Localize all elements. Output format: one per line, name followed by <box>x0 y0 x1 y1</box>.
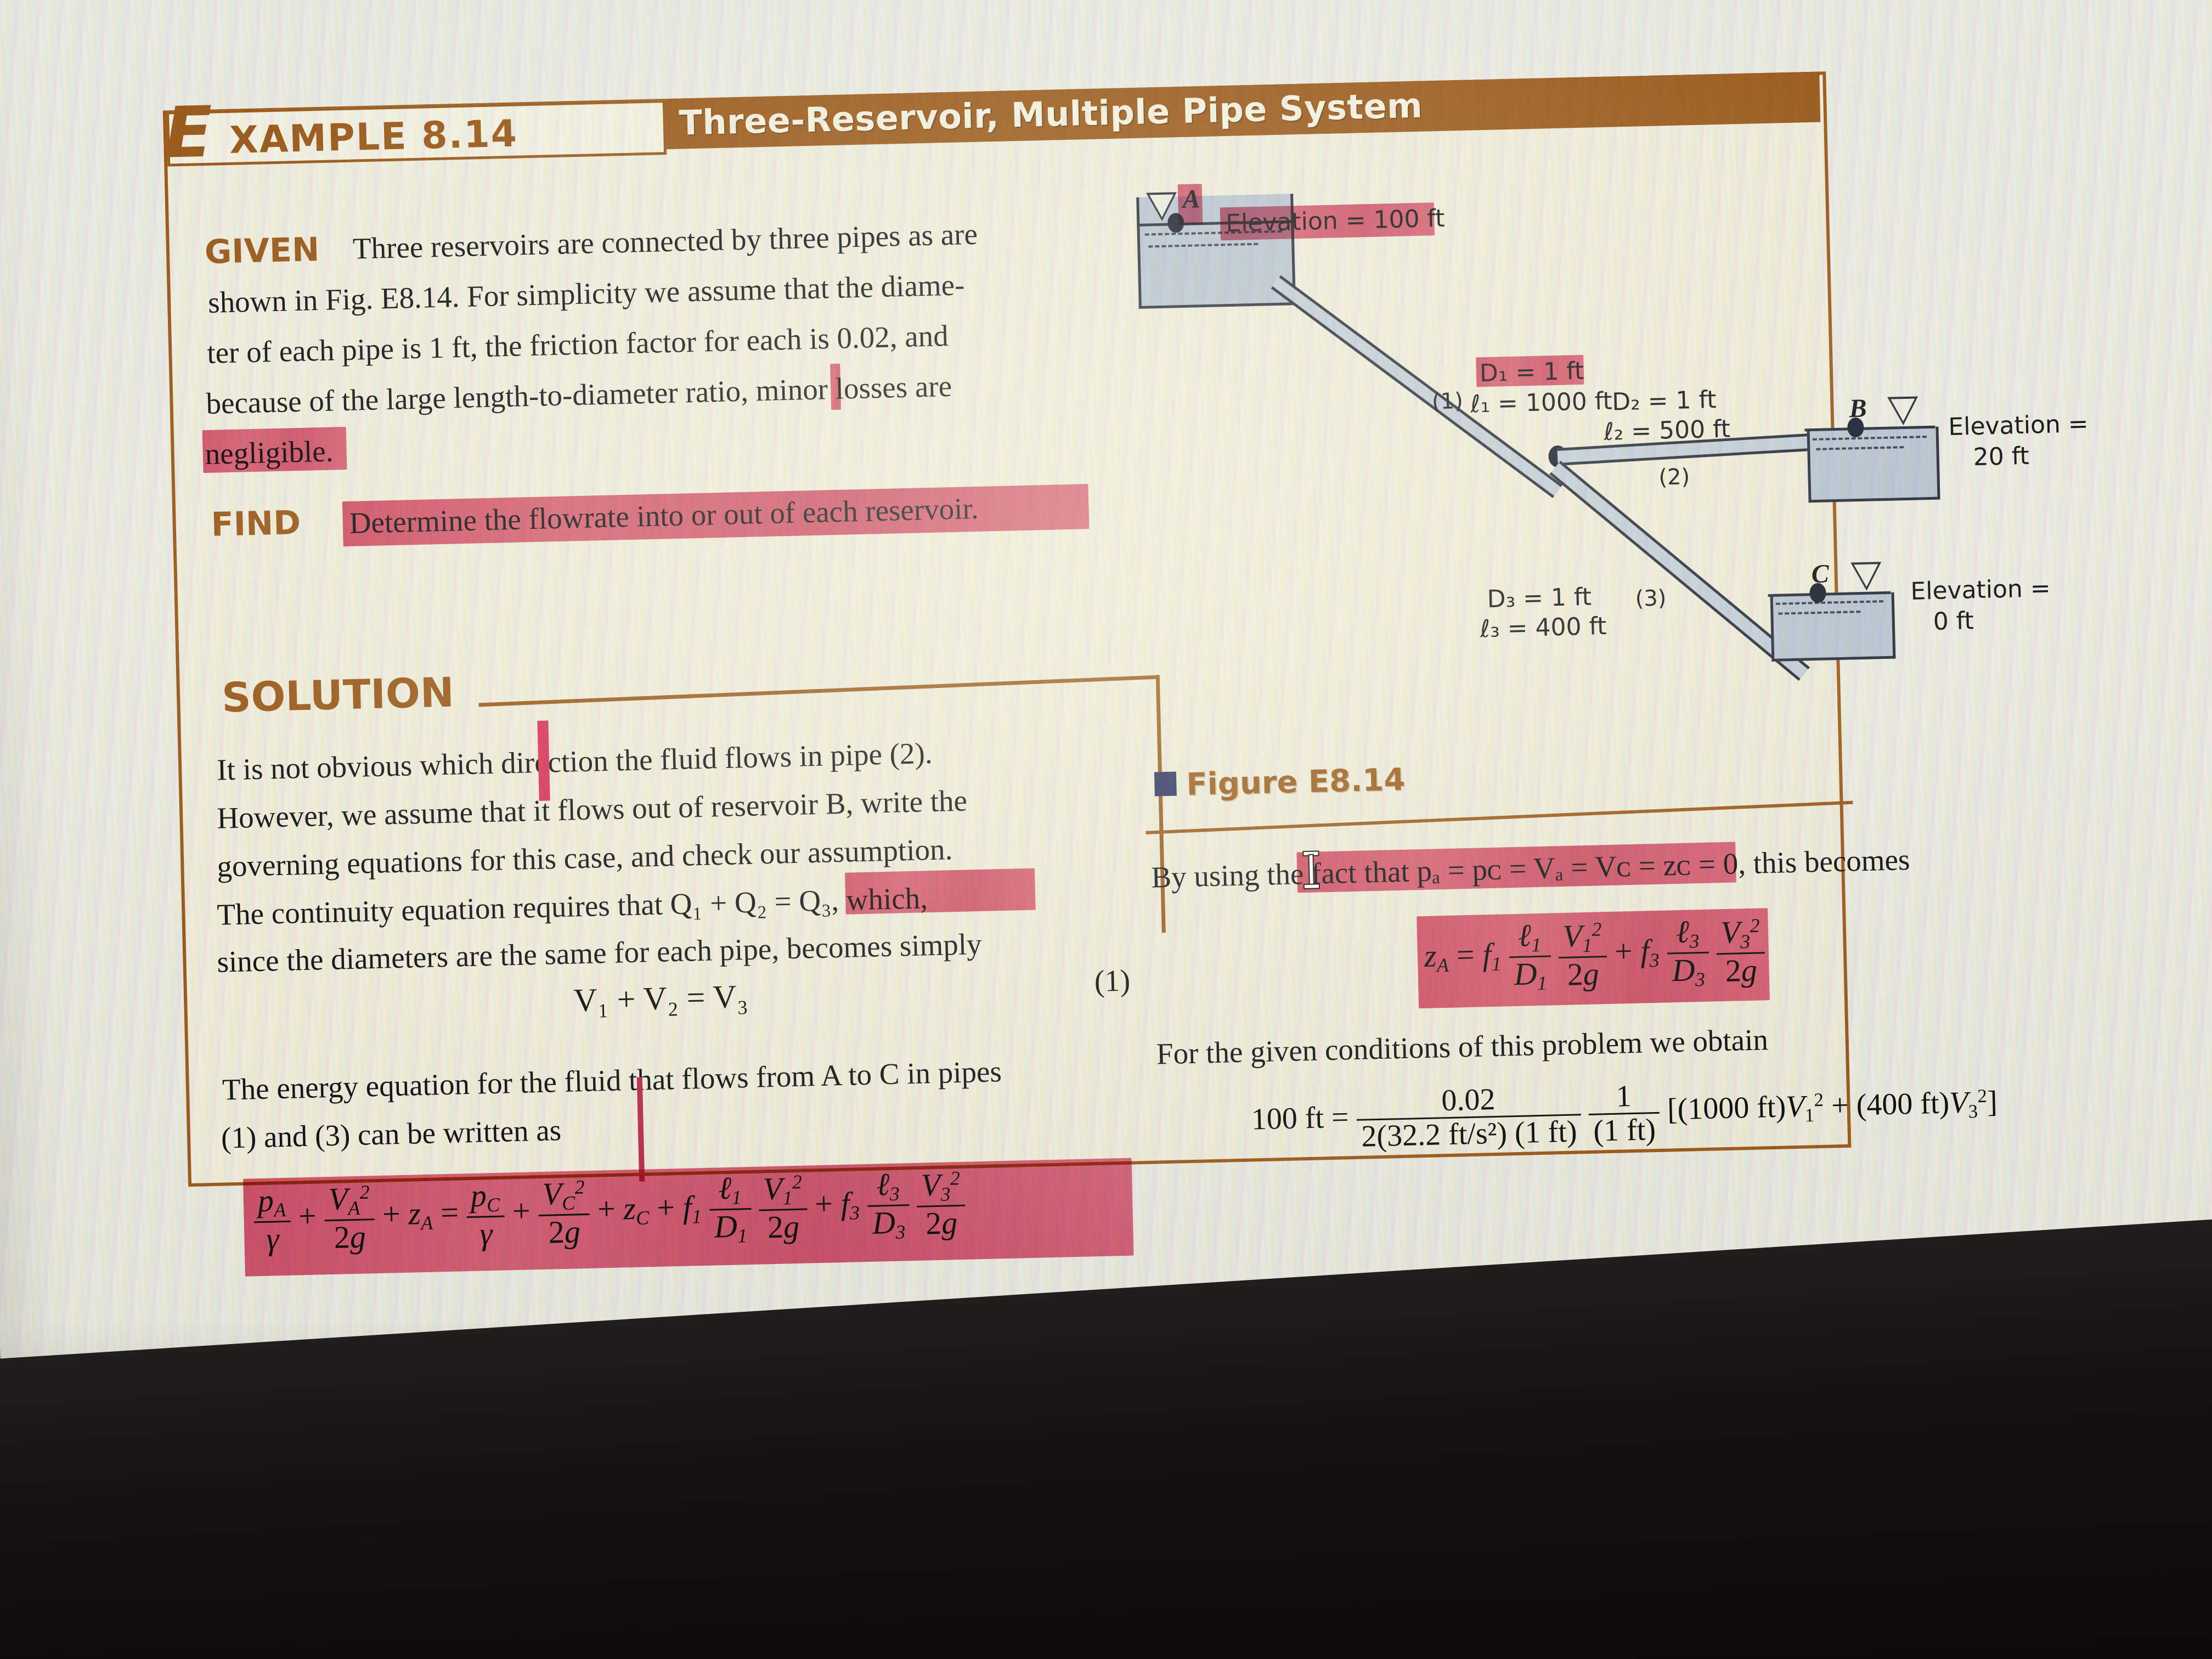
highlight-negligible <box>202 427 347 473</box>
pipe-1-diameter: D₁ = 1 ft <box>1479 357 1584 387</box>
pipe-3-length: ℓ₃ = 400 ft <box>1480 612 1607 643</box>
figure-caption-bullet-icon <box>1154 771 1177 796</box>
reservoir-c-elevation-line-1: Elevation = <box>1910 574 2051 606</box>
equation-numeric-bracket: [(1000 ft)V12 + (400 ft)V32] <box>1667 1085 1997 1127</box>
equation-1-number: (1) <box>1094 963 1131 1000</box>
reservoir-b-water-level-icon <box>1887 396 1918 425</box>
equation-continuity: V₁ + V₂ = V₃ <box>573 978 749 1019</box>
reservoir-b-letter: B <box>1849 393 1867 424</box>
figure-e8-14: A Elevation = 100 ft (1) D₁ = 1 ft ℓ₁ = … <box>1136 165 1851 746</box>
pipe-1-tag: (1) <box>1432 388 1464 414</box>
highlight-continuity <box>845 868 1036 915</box>
example-drop-cap: E <box>163 98 213 169</box>
figure-caption: Figure E8.14 <box>1186 762 1406 803</box>
monitor-photo: three pipes. In general, the flow direct… <box>0 0 2212 1659</box>
pipe-2-length: ℓ₂ = 500 ft <box>1604 415 1731 446</box>
pipe-2-diameter: D₂ = 1 ft <box>1612 386 1717 416</box>
reservoir-b-elevation-line-2: 20 ft <box>1973 442 2029 471</box>
pipe-3 <box>1549 461 1810 681</box>
pipe-3-tag: (3) <box>1635 585 1667 611</box>
reservoir-a-letter: A <box>1182 184 1200 215</box>
text-caret-which <box>537 720 550 800</box>
highlight-ratio-caret <box>830 364 841 410</box>
equation-numeric-num2: 1 <box>1588 1080 1660 1114</box>
pipe-2-tag: (2) <box>1658 464 1690 490</box>
pipe-3-diameter: D₃ = 1 ft <box>1487 583 1592 613</box>
reservoir-c-water-level-icon <box>1850 562 1882 591</box>
example-number-label: XAMPLE 8.14 <box>229 112 518 162</box>
monitor-screen: three pipes. In general, the flow direct… <box>0 0 2212 1387</box>
equation-za: zA = f1 ℓ1D1 V122g + f3 ℓ3D3 V322g <box>1423 913 1765 996</box>
reservoir-c-elevation-line-2: 0 ft <box>1933 607 1974 636</box>
given-label: GIVEN <box>204 230 320 272</box>
reservoir-c-letter: C <box>1811 558 1829 589</box>
find-label: FIND <box>211 504 301 544</box>
pipe-1 <box>1271 275 1562 498</box>
pipe-1-length: ℓ₁ = 1000 ft <box>1470 387 1613 419</box>
solution-label: SOLUTION <box>221 669 455 721</box>
equation-numeric-lhs: 100 ft = <box>1251 1100 1349 1136</box>
textbook-page: three pipes. In general, the flow direct… <box>0 0 2212 1387</box>
reservoir-a-elevation: Elevation = 100 ft <box>1226 205 1445 238</box>
mouse-i-beam-cursor <box>1304 851 1319 888</box>
equation-numeric-den1: 2(32.2 ft/s²) (1 ft) <box>1357 1114 1582 1153</box>
equation-numeric-num1: 0.02 <box>1356 1081 1581 1119</box>
reservoir-b-elevation-line-1: Elevation = <box>1948 410 2089 441</box>
